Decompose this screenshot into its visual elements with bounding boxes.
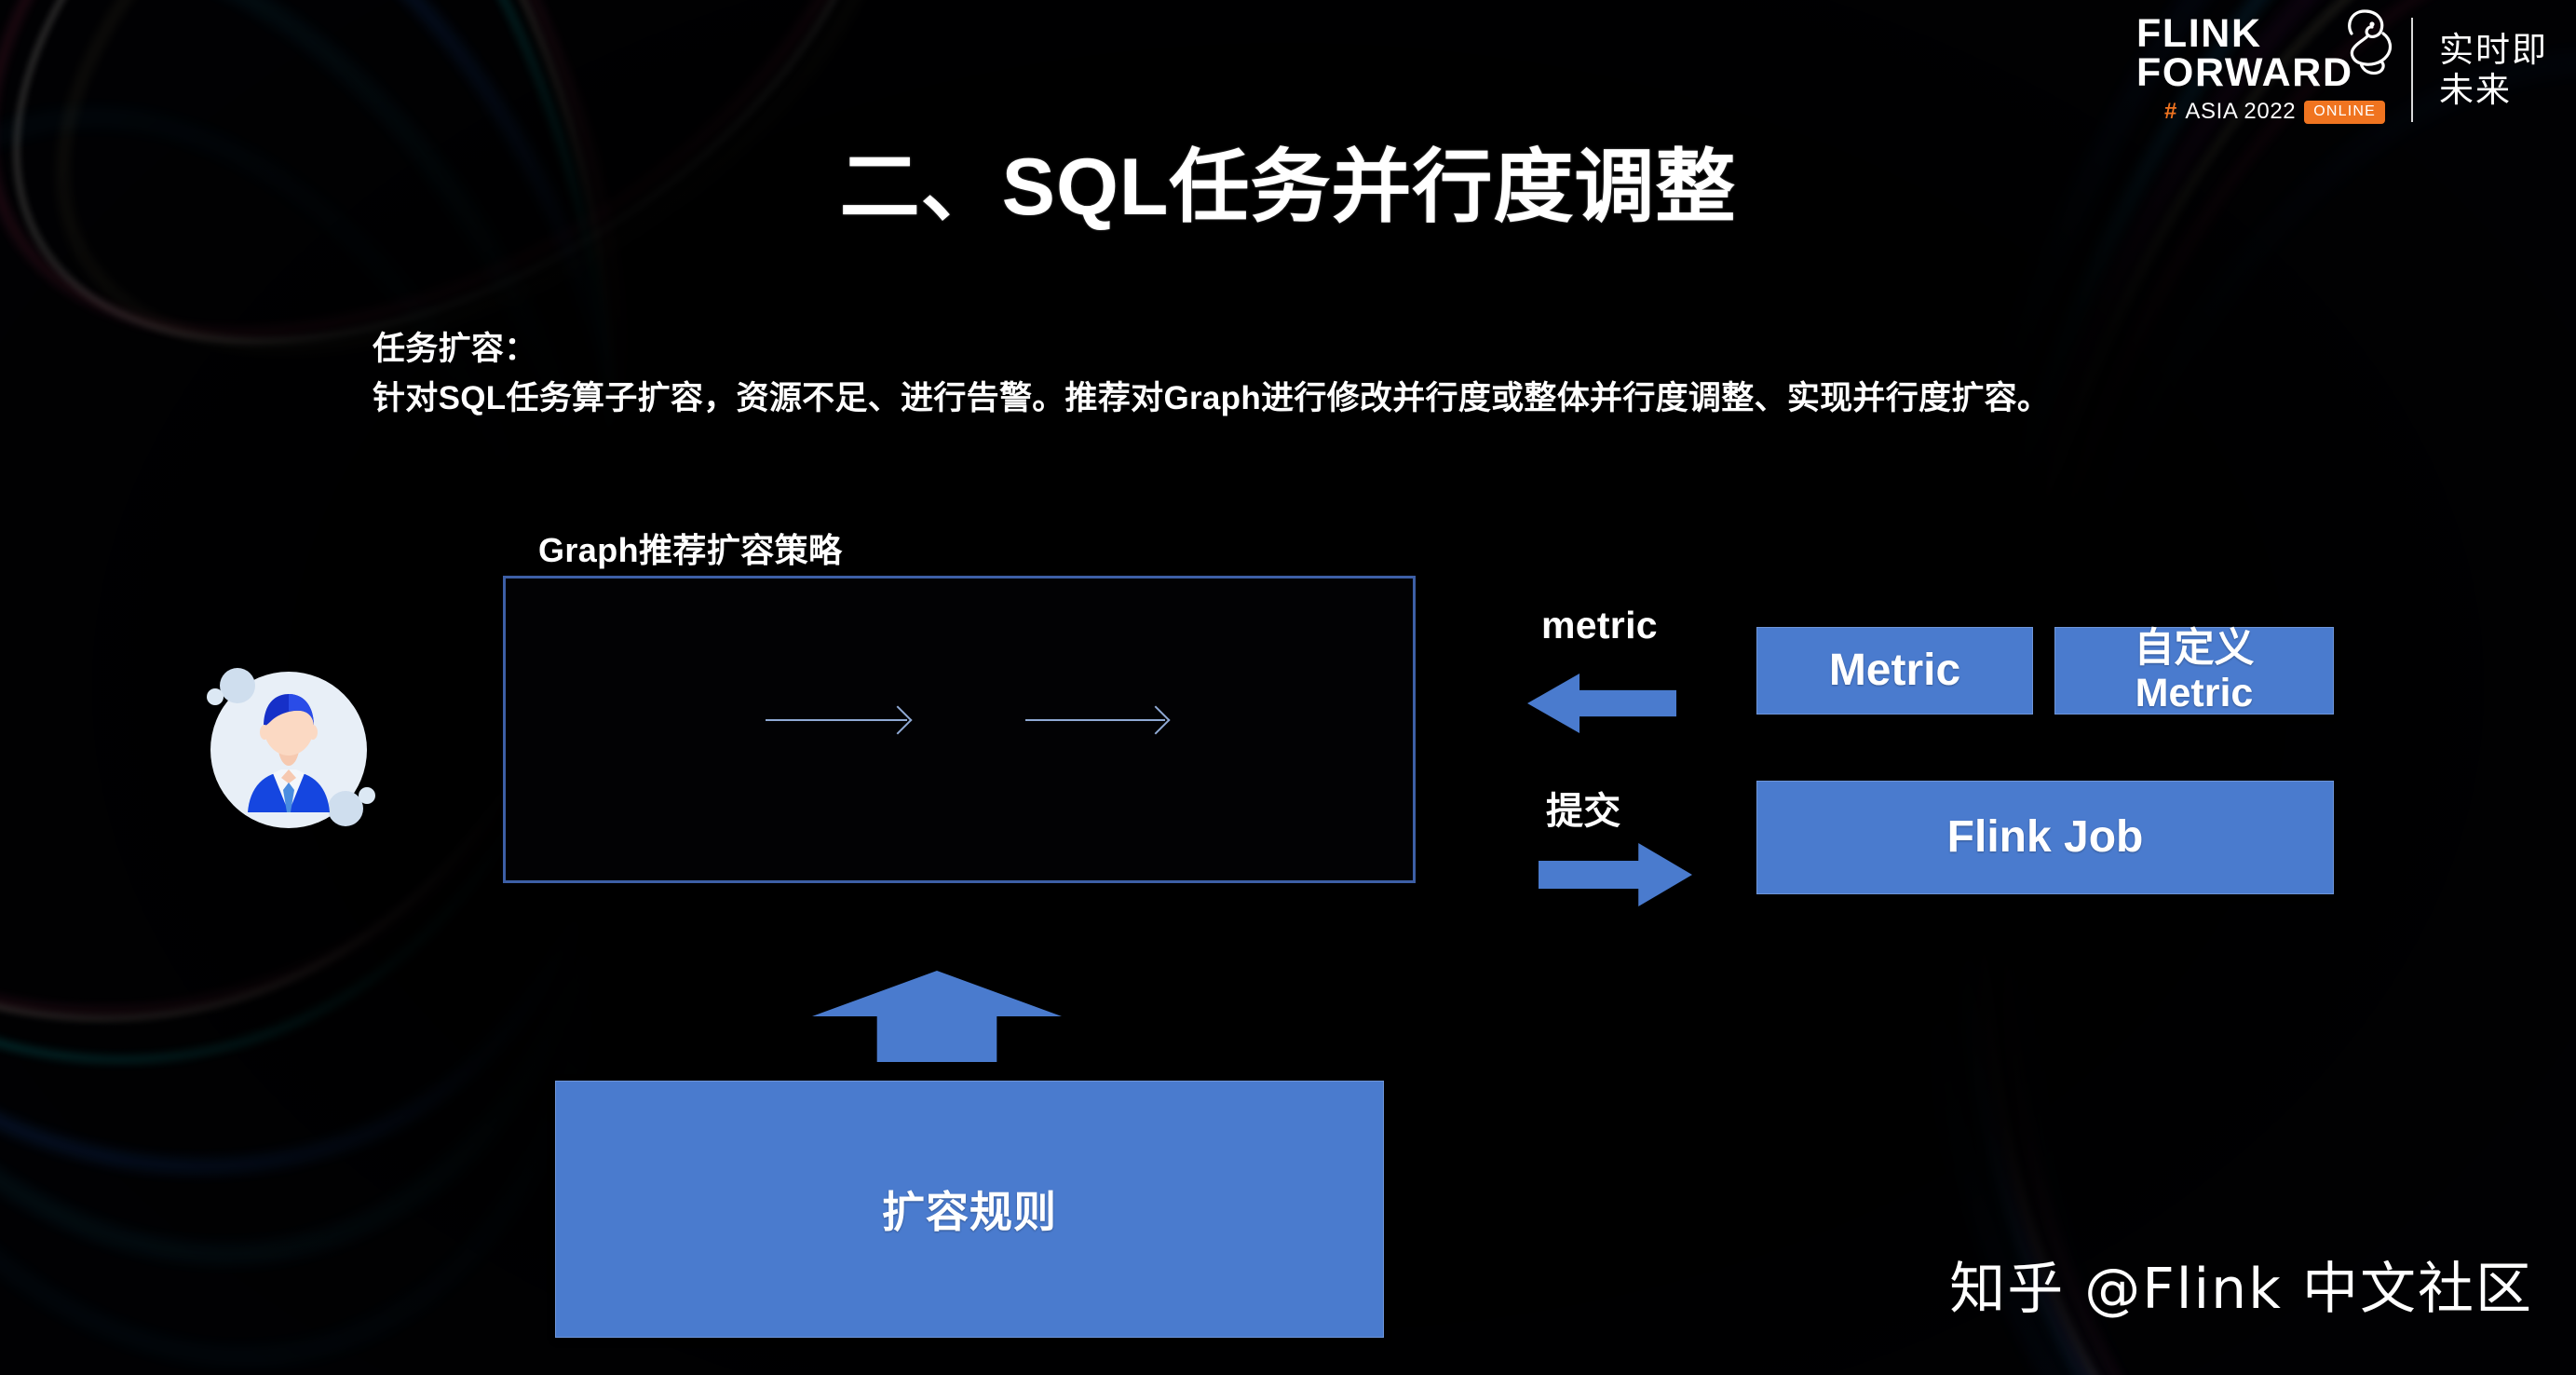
slide-canvas: FLINK FORWARD # ASIA 2022 ONLINE 实时即 未来 — [0, 0, 2576, 1375]
card-metric[interactable]: Metric — [1756, 627, 2033, 715]
logo-chinese-tagline: 实时即 未来 — [2439, 30, 2548, 111]
arrow-right-icon — [1539, 843, 1692, 906]
logo-event-name: ASIA 2022 — [2185, 99, 2296, 125]
squirrel-icon — [2325, 6, 2406, 85]
hash-icon: # — [2164, 99, 2176, 125]
watermark: 知乎 @Flink 中文社区 — [1949, 1244, 2533, 1325]
user-avatar — [191, 652, 386, 848]
logo-cn-line2: 未来 — [2439, 70, 2548, 111]
card-flink-job[interactable]: Flink Job — [1756, 781, 2334, 894]
logo-wordmark-group: FLINK FORWARD # ASIA 2022 ONLINE — [2136, 15, 2385, 125]
page-title: 二、SQL任务并行度调整 — [0, 121, 2576, 238]
flink-forward-logo: FLINK FORWARD # ASIA 2022 ONLINE 实时即 未来 — [2136, 15, 2548, 125]
logo-divider — [2411, 18, 2413, 122]
body-paragraph: 针对SQL任务算子扩容，资源不足、进行告警。推荐对Graph进行修改并行度或整体… — [373, 374, 2170, 423]
logo-cn-line1: 实时即 — [2439, 30, 2548, 71]
graph-container — [503, 576, 1416, 883]
arrow-up-icon — [812, 971, 1062, 1062]
metric-flow-label: metric — [1541, 604, 1658, 647]
card-custom-metric-line2: Metric — [2135, 671, 2255, 715]
card-custom-metric-line1: 自定义 — [2135, 626, 2255, 671]
card-custom-metric[interactable]: 自定义 Metric — [2054, 627, 2334, 715]
graph-strategy-label: Graph推荐扩容策略 — [538, 524, 842, 572]
submit-flow-label: 提交 — [1546, 781, 1621, 835]
logo-online-badge: ONLINE — [2304, 101, 2385, 124]
body-lead: 任务扩容： — [373, 324, 2170, 374]
card-scaling-rule[interactable]: 扩容规则 — [555, 1081, 1384, 1338]
graph-connector-source-to-map — [766, 719, 907, 721]
body-text: 任务扩容： 针对SQL任务算子扩容，资源不足、进行告警。推荐对Graph进行修改… — [373, 324, 2170, 423]
logo-event-row: # ASIA 2022 ONLINE — [2136, 99, 2385, 125]
arrow-left-icon — [1527, 674, 1676, 733]
graph-connector-map-to-keyby — [1025, 719, 1165, 721]
